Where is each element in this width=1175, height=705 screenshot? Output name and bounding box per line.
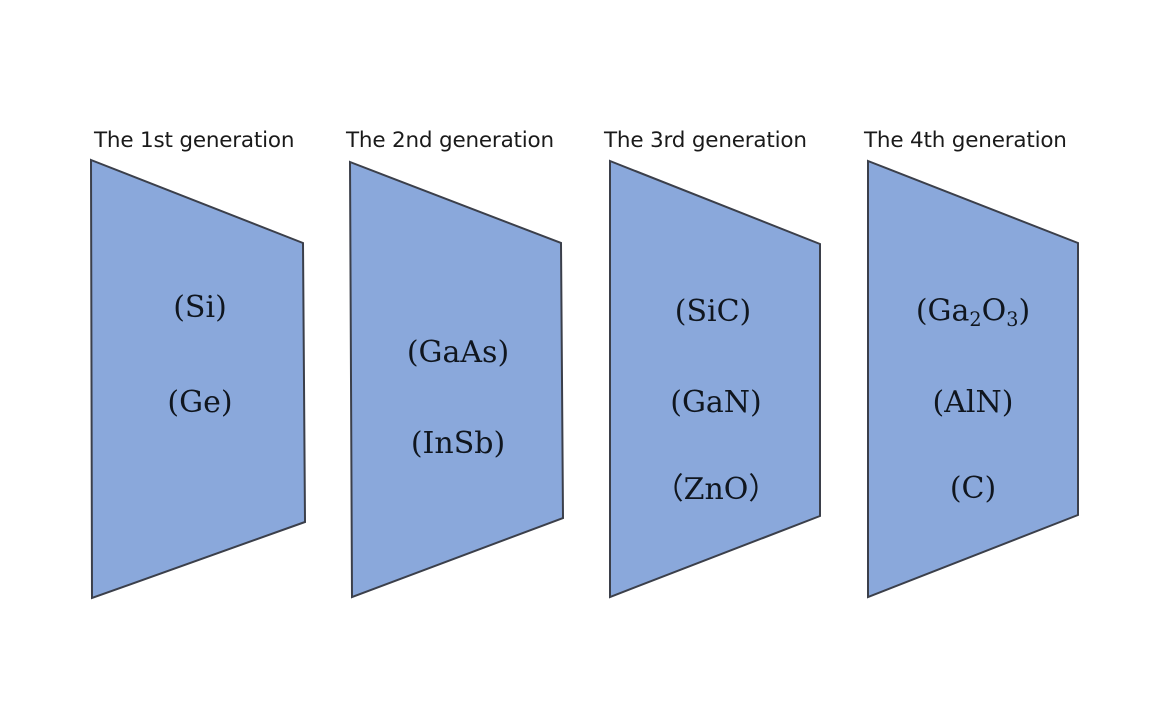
material-label-4th-2: (AlN)	[933, 388, 1014, 418]
material-label-4th-1: (Ga2O3)	[916, 297, 1030, 330]
generation-panel-3rd[interactable]	[610, 161, 820, 597]
material-label-3rd-3: （ZnO）	[654, 475, 779, 505]
generation-header-2nd: The 2nd generation	[346, 130, 554, 152]
generation-panel-4th[interactable]	[868, 161, 1078, 597]
generation-panel-1st[interactable]	[91, 160, 305, 598]
generation-header-3rd: The 3rd generation	[604, 130, 807, 152]
material-label-2nd-1: (GaAs)	[407, 338, 509, 368]
material-label-4th-3: (C)	[950, 474, 996, 504]
generation-panel-2nd[interactable]	[350, 162, 563, 597]
material-label-3rd-2: (GaN)	[670, 388, 762, 418]
material-label-1st-1: (Si)	[173, 293, 227, 323]
generation-shapes-layer	[0, 0, 1175, 705]
generation-header-1st: The 1st generation	[94, 130, 294, 152]
material-label-3rd-1: (SiC)	[675, 297, 752, 327]
semiconductor-generations-figure: The 1st generationThe 2nd generationThe …	[0, 0, 1175, 705]
material-label-1st-2: (Ge)	[167, 388, 232, 418]
generation-header-4th: The 4th generation	[864, 130, 1067, 152]
material-label-2nd-2: (InSb)	[411, 429, 505, 459]
